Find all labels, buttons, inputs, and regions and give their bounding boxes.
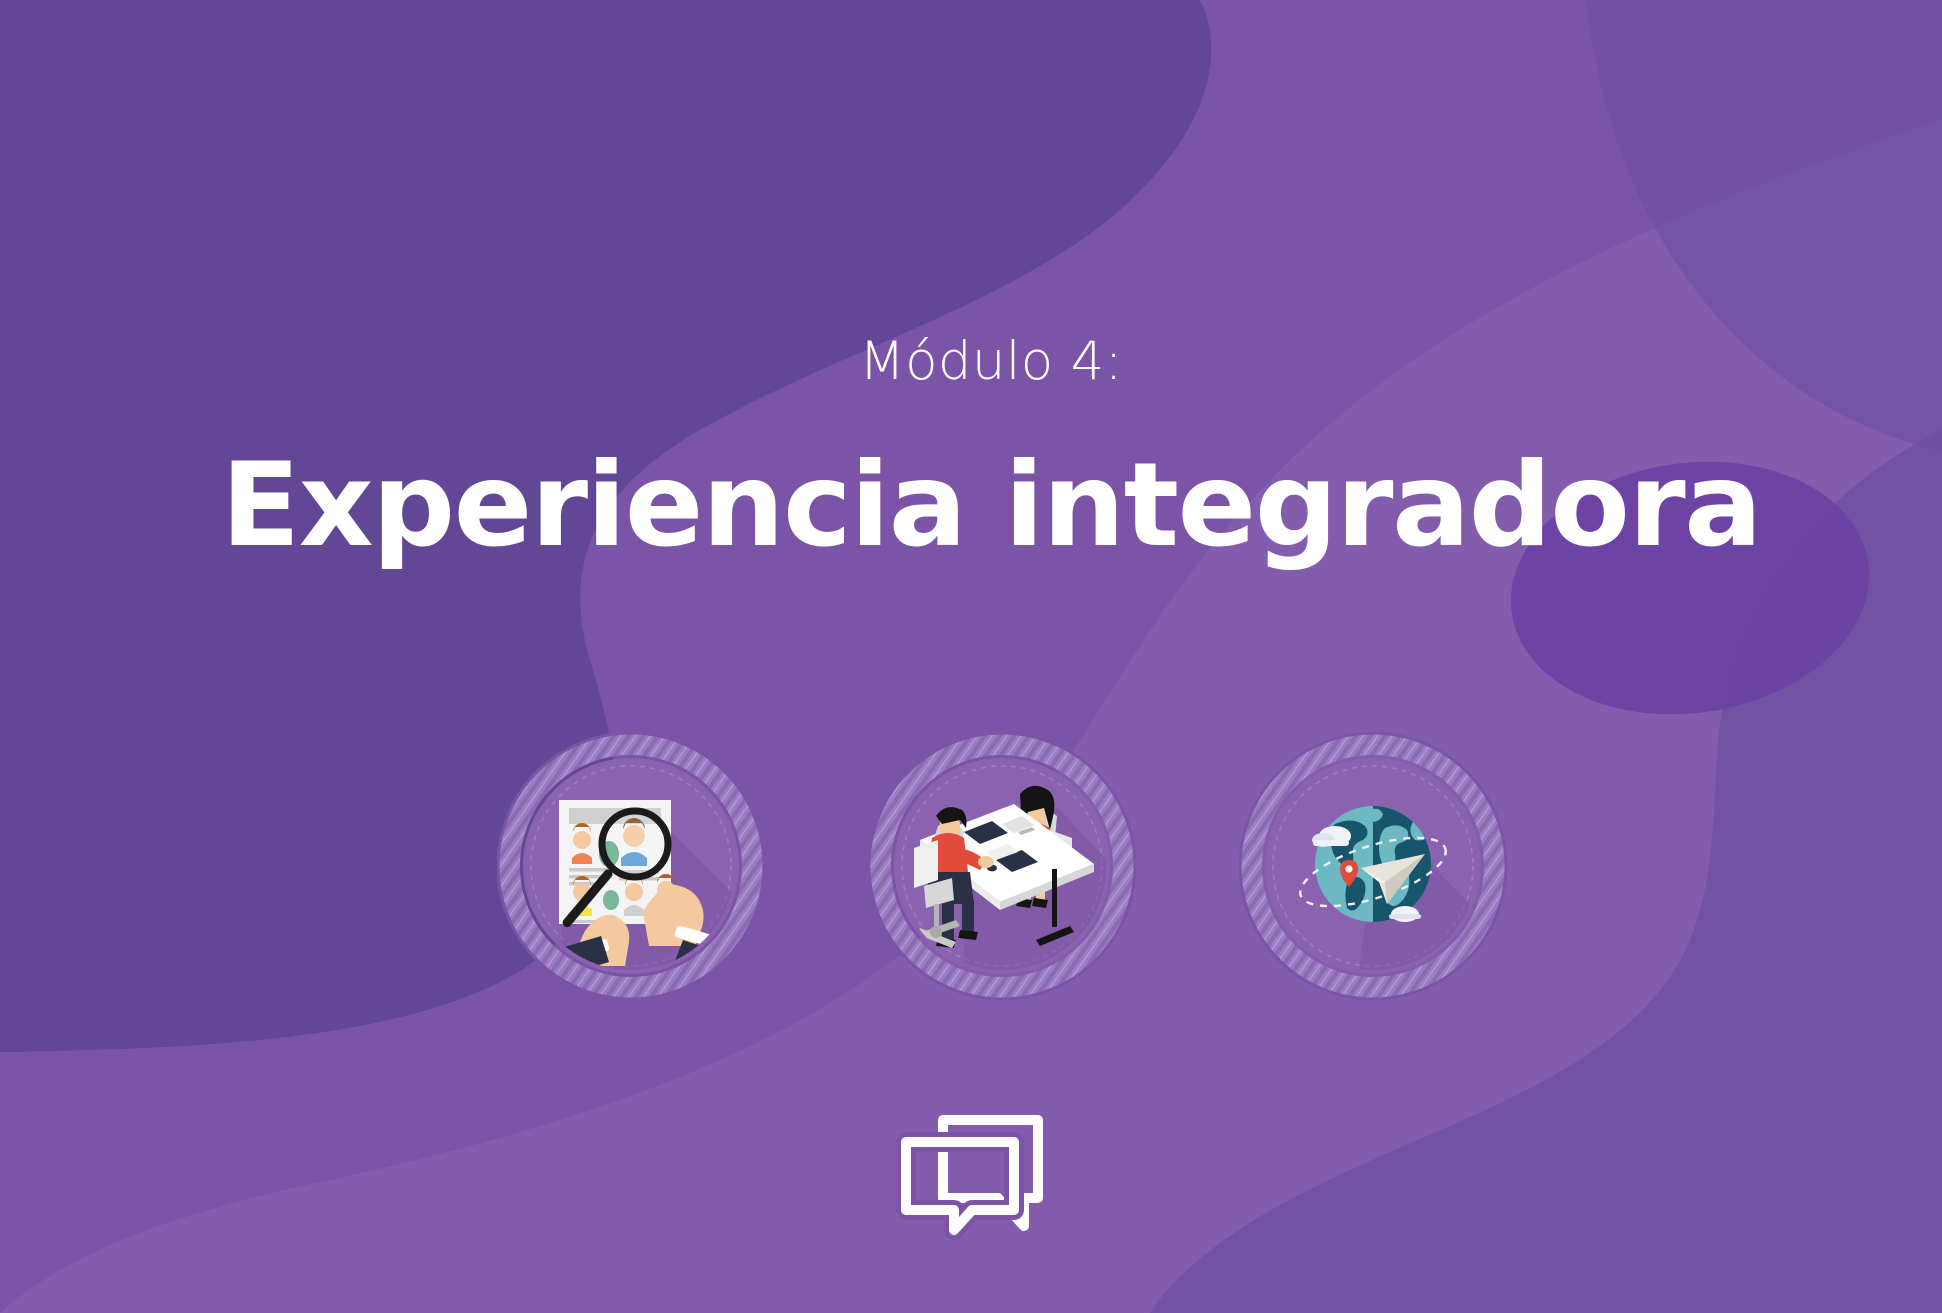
page-title: Experiencia integradora — [0, 448, 1942, 564]
speech-bubbles-logo — [896, 1112, 1046, 1246]
slide-root: Módulo 4: Experiencia integradora — [0, 0, 1942, 1313]
medallion-row — [497, 732, 1507, 1000]
module-eyebrow: Módulo 4: — [0, 335, 1942, 388]
global-reach-medallion[interactable] — [1239, 732, 1507, 1000]
candidate-search-medallion[interactable] — [497, 732, 765, 1000]
interview-meeting-medallion[interactable] — [868, 732, 1136, 1000]
